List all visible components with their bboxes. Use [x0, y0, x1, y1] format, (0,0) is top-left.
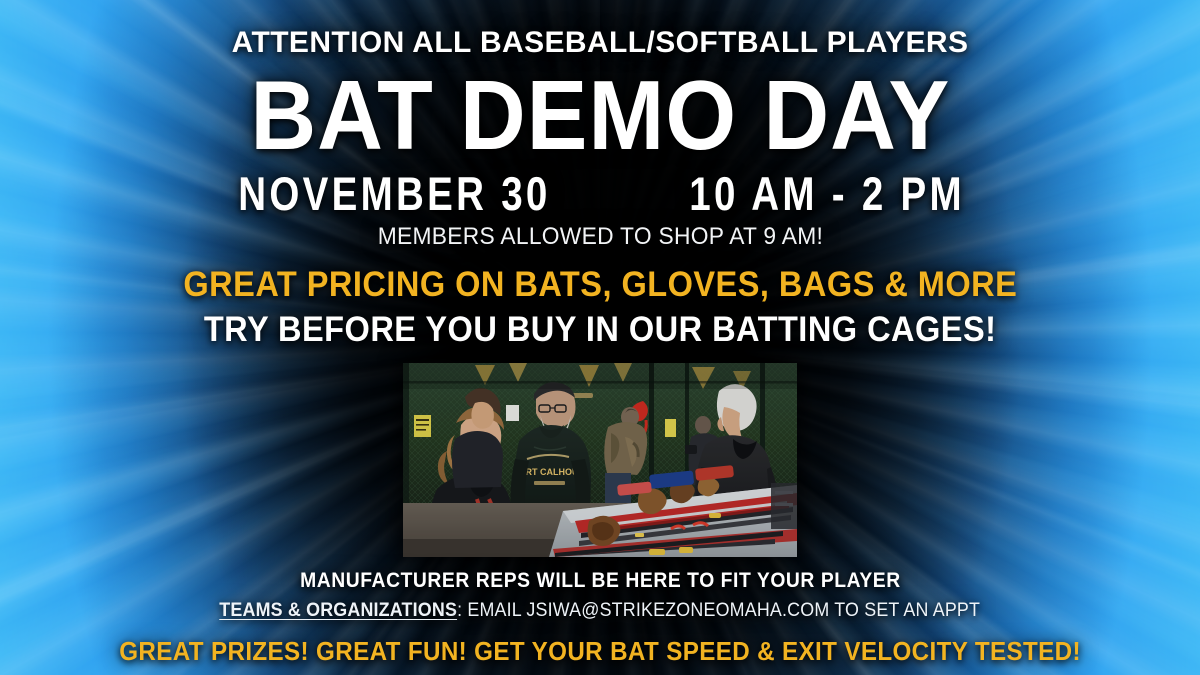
manufacturer-reps-note: MANUFACTURER REPS WILL BE HERE TO FIT YO…: [300, 569, 901, 593]
flyer-canvas: ATTENTION ALL BASEBALL/SOFTBALL PLAYERS …: [0, 0, 1200, 675]
event-photo-illustration: FORT CALHOUN: [403, 363, 797, 557]
event-datetime-row: NOVEMBER 30 10 AM - 2 PM: [204, 170, 995, 217]
teams-label: TEAMS & ORGANIZATIONS: [220, 600, 458, 621]
event-time: 10 AM - 2 PM: [690, 170, 966, 217]
teams-colon: :: [457, 600, 462, 621]
event-photo: FORT CALHOUN: [403, 363, 797, 557]
teams-contact-line: TEAMS & ORGANIZATIONS: EMAIL JSIWA@STRIK…: [220, 600, 981, 622]
prizes-footer-line: GREAT PRIZES! GREAT FUN! GET YOUR BAT SP…: [119, 636, 1081, 667]
try-before-buy-headline: TRY BEFORE YOU BUY IN OUR BATTING CAGES!: [204, 312, 997, 347]
event-date: NOVEMBER 30: [239, 170, 551, 217]
flyer-content: ATTENTION ALL BASEBALL/SOFTBALL PLAYERS …: [0, 0, 1200, 675]
pricing-headline: GREAT PRICING ON BATS, GLOVES, BAGS & MO…: [183, 267, 1017, 302]
attention-headline: ATTENTION ALL BASEBALL/SOFTBALL PLAYERS: [232, 28, 969, 58]
members-note: MEMBERS ALLOWED TO SHOP AT 9 AM!: [377, 223, 822, 251]
page-title: BAT DEMO DAY: [250, 70, 950, 160]
teams-contact-detail[interactable]: EMAIL JSIWA@STRIKEZONEOMAHA.COM TO SET A…: [468, 600, 981, 621]
